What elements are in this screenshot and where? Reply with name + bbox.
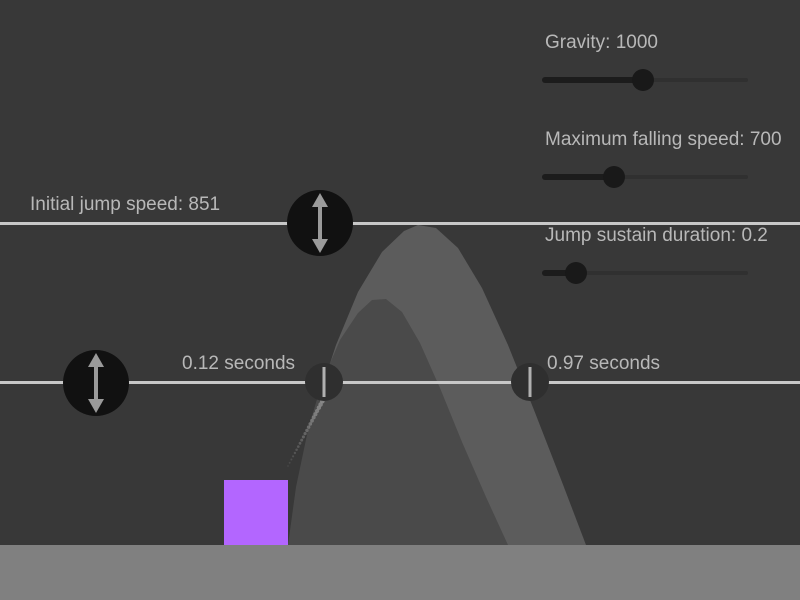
jump-sustain-duration-slider-knob[interactable] <box>565 262 587 284</box>
maximum-falling-speed-slider[interactable] <box>542 166 748 188</box>
gravity-slider-group: Gravity: 1000 <box>542 33 800 91</box>
gravity-slider-knob[interactable] <box>632 69 654 91</box>
jump-height-handle[interactable] <box>63 350 129 416</box>
vertical-double-arrow-icon <box>63 350 129 416</box>
jump-sustain-duration-slider[interactable] <box>542 262 748 284</box>
initial-jump-speed-handle[interactable] <box>287 190 353 256</box>
maximum-falling-speed-slider-knob[interactable] <box>603 166 625 188</box>
maximum-falling-speed-slider-group: Maximum falling speed: 700 <box>542 130 800 188</box>
maximum-falling-speed-slider-label: Maximum falling speed: 700 <box>545 130 800 149</box>
jump-sustain-duration-slider-label: Jump sustain duration: 0.2 <box>545 226 800 245</box>
gravity-slider-fill <box>542 77 643 83</box>
jump-sustain-duration-slider-group: Jump sustain duration: 0.2 <box>542 226 800 284</box>
gravity-slider-label: Gravity: 1000 <box>545 33 800 52</box>
gravity-slider[interactable] <box>542 69 748 91</box>
apex-time-handle[interactable] <box>305 363 343 401</box>
jump-tuner-app: Initial jump speed: 851 0.12 seconds 0.9… <box>0 0 800 600</box>
player-box[interactable] <box>224 480 288 545</box>
ground-platform <box>0 545 800 600</box>
vertical-tick-icon <box>511 363 549 401</box>
initial-jump-speed-label: Initial jump speed: 851 <box>30 195 220 214</box>
landing-time-handle[interactable] <box>511 363 549 401</box>
vertical-double-arrow-icon <box>287 190 353 256</box>
landing-time-label: 0.97 seconds <box>547 354 660 373</box>
apex-time-label: 0.12 seconds <box>182 354 295 373</box>
vertical-tick-icon <box>305 363 343 401</box>
